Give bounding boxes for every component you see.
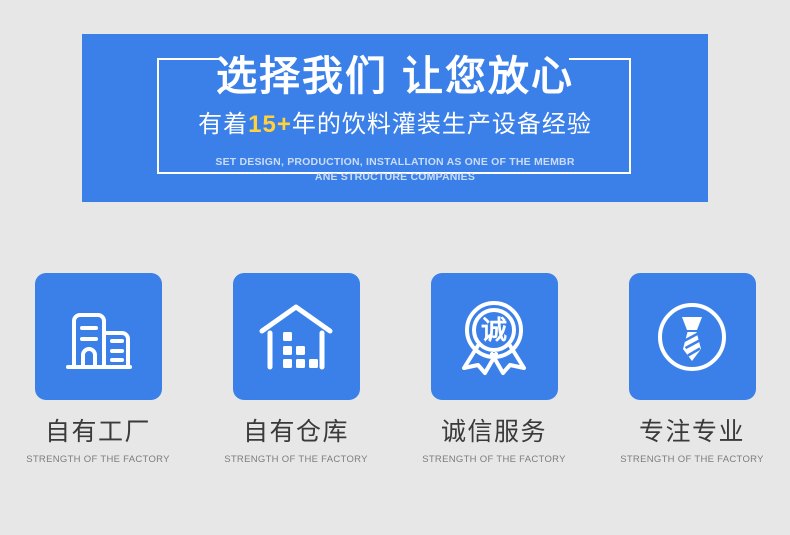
feature-item-integrity-service[interactable]: 诚 诚信服务 STRENGTH OF THE FACTORY: [431, 273, 558, 466]
feature-label-integrity-service: 诚信服务: [441, 417, 547, 447]
hero-english-tagline: SET DESIGN, PRODUCTION, INSTALLATION AS …: [82, 155, 708, 185]
feature-tile-own-factory[interactable]: [35, 273, 162, 400]
feature-tile-professional[interactable]: [629, 273, 756, 400]
hero-english-line-1: SET DESIGN, PRODUCTION, INSTALLATION AS …: [82, 155, 708, 170]
feature-sublabel-professional: STRENGTH OF THE FACTORY: [620, 453, 764, 466]
hero-english-line-2: ANE STRUCTURE COMPANIES: [82, 170, 708, 185]
feature-item-own-warehouse[interactable]: 自有仓库 STRENGTH OF THE FACTORY: [233, 273, 360, 466]
necktie-icon: [650, 295, 734, 379]
warehouse-icon: [257, 299, 335, 375]
medal-character: 诚: [481, 316, 507, 346]
hero-title: 选择我们让您放心: [82, 50, 708, 102]
feature-list: 自有工厂 STRENGTH OF THE FACTORY 自有仓库 STR: [0, 273, 790, 466]
feature-tile-own-warehouse[interactable]: [233, 273, 360, 400]
feature-label-professional: 专注专业: [639, 417, 745, 447]
feature-item-own-factory[interactable]: 自有工厂 STRENGTH OF THE FACTORY: [35, 273, 162, 466]
hero-title-part1: 选择我们: [216, 53, 388, 99]
feature-label-own-factory: 自有工厂: [45, 417, 151, 447]
hero-subtitle-highlight: 15+: [248, 111, 292, 138]
factory-building-icon: [60, 299, 136, 375]
feature-sublabel-own-warehouse: STRENGTH OF THE FACTORY: [224, 453, 368, 466]
integrity-medal-icon: 诚: [454, 297, 534, 377]
feature-tile-integrity-service[interactable]: 诚: [431, 273, 558, 400]
feature-sublabel-integrity-service: STRENGTH OF THE FACTORY: [422, 453, 566, 466]
hero-subtitle: 有着15+年的饮料灌装生产设备经验: [82, 109, 708, 141]
hero-subtitle-prefix: 有着: [198, 111, 248, 138]
feature-sublabel-own-factory: STRENGTH OF THE FACTORY: [26, 453, 170, 466]
hero-content: 选择我们让您放心 有着15+年的饮料灌装生产设备经验 SET DESIGN, P…: [82, 34, 708, 185]
feature-label-own-warehouse: 自有仓库: [243, 417, 349, 447]
feature-item-professional[interactable]: 专注专业 STRENGTH OF THE FACTORY: [629, 273, 756, 466]
hero-banner: 选择我们让您放心 有着15+年的饮料灌装生产设备经验 SET DESIGN, P…: [82, 34, 708, 202]
hero-title-part2: 让您放心: [402, 53, 574, 99]
hero-subtitle-suffix: 年的饮料灌装生产设备经验: [292, 111, 592, 138]
